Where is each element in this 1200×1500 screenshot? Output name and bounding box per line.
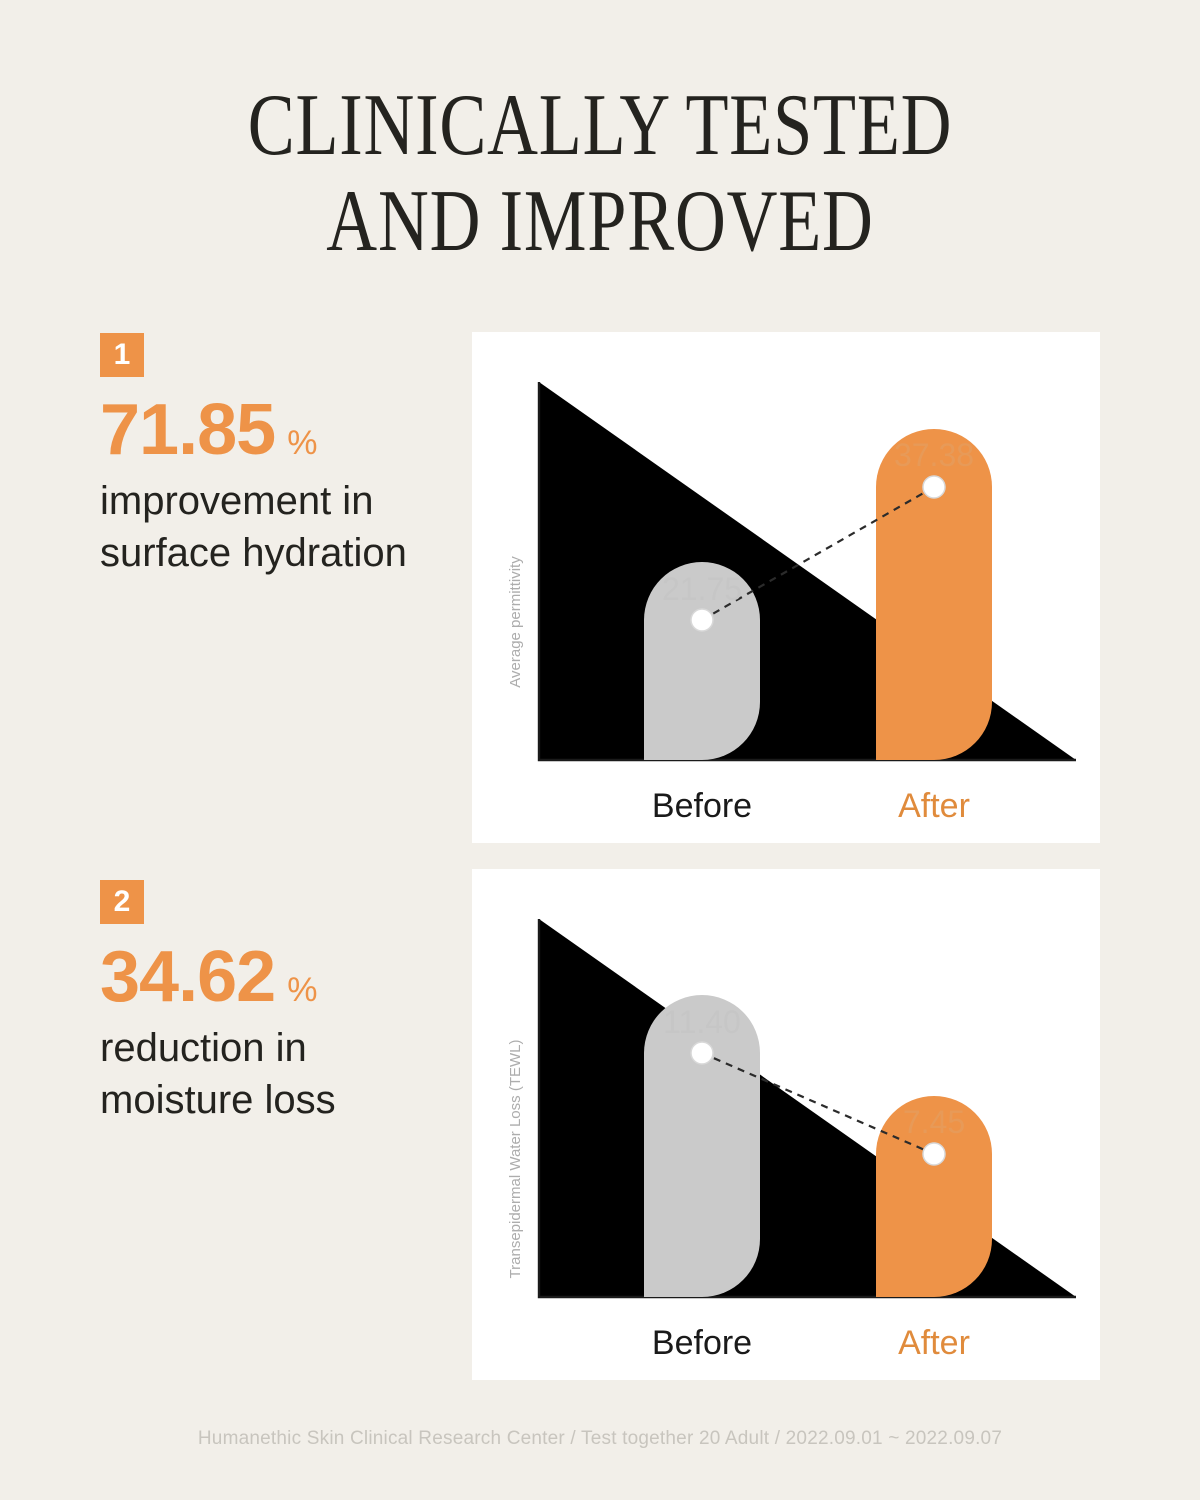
stat-description-1-line-2: surface hydration	[100, 527, 470, 579]
chart-2: Transepidermal Water Loss (TEWL) 11.40 7…	[472, 869, 1100, 1380]
chart-1-marker-before	[691, 609, 713, 631]
chart-2-bar-before	[644, 995, 760, 1297]
chart-1-category-after: After	[898, 787, 970, 825]
chart-1-axis	[539, 382, 1076, 760]
chart-1-marker-after	[923, 476, 945, 498]
chart-2-marker-before	[691, 1042, 713, 1064]
stat-value-row-1: 71.85 %	[100, 393, 470, 469]
stat-value-row-2: 34.62 %	[100, 940, 470, 1016]
stat-block-1: 1 71.85 % improvement in surface hydrati…	[100, 333, 470, 579]
stat-description-2-line-2: moisture loss	[100, 1074, 470, 1126]
title-line-2: AND IMPROVED	[120, 174, 1080, 270]
chart-1-y-axis-label: Average permittivity	[507, 556, 524, 688]
chart-1-category-before: Before	[652, 787, 752, 825]
chart-2-marker-after	[923, 1143, 945, 1165]
chart-1-value-label-after: 37.38	[894, 437, 974, 473]
chart-1-value-label-before: 21.75	[662, 571, 742, 607]
stat-unit-1: %	[287, 424, 317, 463]
stat-value-2: 34.62	[100, 940, 275, 1016]
chart-1: Average permittivity 21.75 37.38 Before …	[472, 332, 1100, 843]
stat-unit-2: %	[287, 971, 317, 1010]
chart-card-1: Average permittivity 21.75 37.38 Before …	[472, 332, 1100, 843]
footer-note: Humanethic Skin Clinical Research Center…	[0, 1428, 1200, 1450]
chart-2-axis	[539, 919, 1076, 1297]
infographic-page: CLINICALLY TESTED AND IMPROVED 1 71.85 %…	[0, 0, 1200, 1500]
chart-2-value-label-before: 11.40	[663, 1004, 741, 1040]
chart-2-category-before: Before	[652, 1324, 752, 1362]
stat-value-1: 71.85	[100, 393, 275, 469]
stat-description-1: improvement in surface hydration	[100, 475, 470, 579]
stat-description-2: reduction in moisture loss	[100, 1022, 470, 1126]
stat-badge-2: 2	[100, 880, 144, 924]
stat-description-1-line-1: improvement in	[100, 475, 470, 527]
chart-2-y-axis-label: Transepidermal Water Loss (TEWL)	[507, 1040, 524, 1279]
stat-badge-1: 1	[100, 333, 144, 377]
chart-card-2: Transepidermal Water Loss (TEWL) 11.40 7…	[472, 869, 1100, 1380]
chart-2-value-label-after: 7.45	[903, 1104, 965, 1140]
title-line-1: CLINICALLY TESTED	[120, 78, 1080, 174]
stat-description-2-line-1: reduction in	[100, 1022, 470, 1074]
chart-2-category-after: After	[898, 1324, 970, 1362]
stat-block-2: 2 34.62 % reduction in moisture loss	[100, 880, 470, 1126]
page-title: CLINICALLY TESTED AND IMPROVED	[0, 78, 1200, 270]
